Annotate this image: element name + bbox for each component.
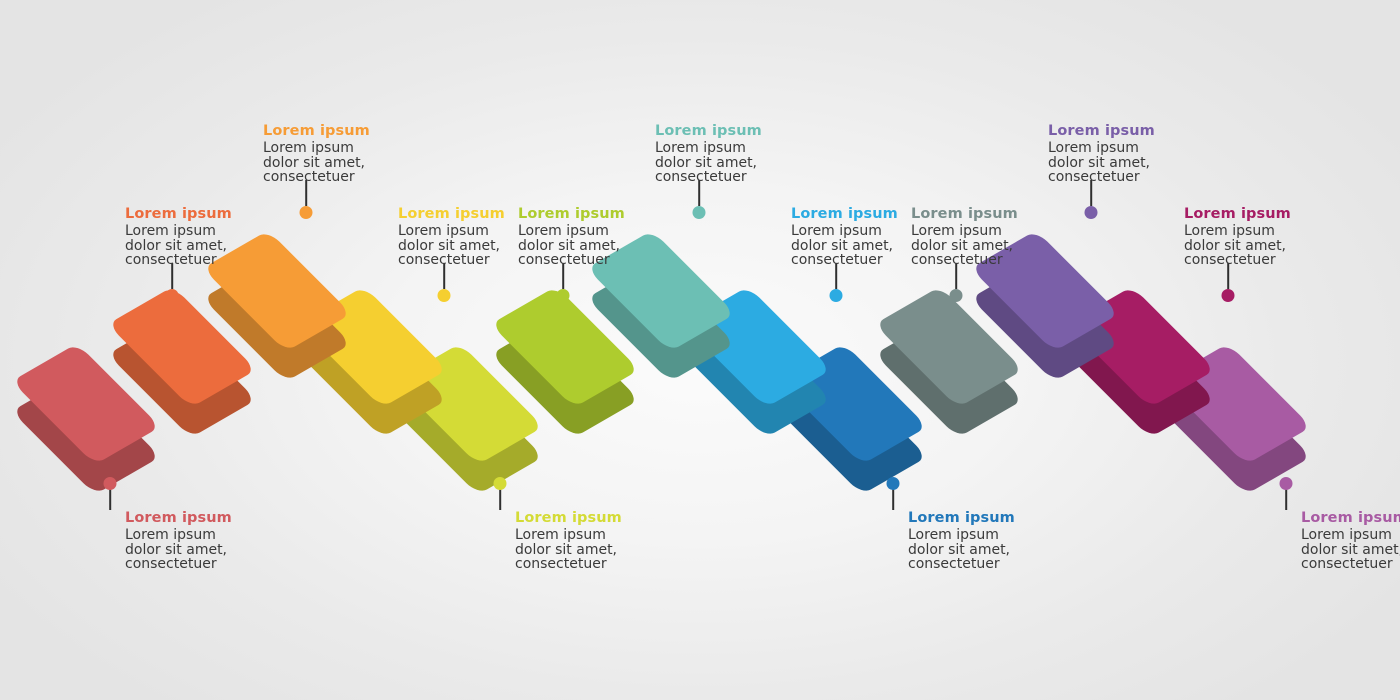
step-body-11: Lorem ipsum dolor sit amet, consectetuer — [1048, 141, 1258, 185]
cube-tile-1[interactable] — [27, 345, 202, 484]
connector-dot-2[interactable] — [166, 289, 179, 302]
step-label-9: Lorem ipsumLorem ipsum dolor sit amet, c… — [908, 510, 1118, 572]
step-label-12: Lorem ipsumLorem ipsum dolor sit amet, c… — [1184, 206, 1394, 268]
connector-8 — [826, 263, 846, 303]
step-heading-10: Lorem ipsum — [911, 206, 1121, 223]
step-label-5: Lorem ipsumLorem ipsum dolor sit amet, c… — [515, 510, 725, 572]
step-heading-9: Lorem ipsum — [908, 510, 1118, 527]
connector-dot-5[interactable] — [494, 477, 507, 490]
step-heading-12: Lorem ipsum — [1184, 206, 1394, 223]
connector-dot-12[interactable] — [1222, 289, 1235, 302]
connector-dot-9[interactable] — [887, 477, 900, 490]
connector-dot-1[interactable] — [104, 477, 117, 490]
step-label-11: Lorem ipsumLorem ipsum dolor sit amet, c… — [1048, 123, 1258, 185]
connector-1 — [100, 477, 120, 517]
step-heading-2: Lorem ipsum — [125, 206, 335, 223]
connector-12 — [1218, 263, 1238, 303]
step-body-10: Lorem ipsum dolor sit amet, consectetuer — [911, 224, 1121, 268]
connector-10 — [946, 263, 966, 303]
step-heading-11: Lorem ipsum — [1048, 123, 1258, 140]
step-heading-3: Lorem ipsum — [263, 123, 473, 140]
connector-dot-6[interactable] — [557, 289, 570, 302]
step-label-2: Lorem ipsumLorem ipsum dolor sit amet, c… — [125, 206, 335, 268]
step-label-13: Lorem ipsumLorem ipsum dolor sit amet, c… — [1301, 510, 1400, 572]
connector-9 — [883, 477, 903, 517]
connector-4 — [434, 263, 454, 303]
step-label-7: Lorem ipsumLorem ipsum dolor sit amet, c… — [655, 123, 865, 185]
step-body-13: Lorem ipsum dolor sit amet, consectetuer — [1301, 528, 1400, 572]
step-heading-7: Lorem ipsum — [655, 123, 865, 140]
step-heading-5: Lorem ipsum — [515, 510, 725, 527]
infographic-canvas: Lorem ipsumLorem ipsum dolor sit amet, c… — [0, 0, 1400, 700]
step-body-7: Lorem ipsum dolor sit amet, consectetuer — [655, 141, 865, 185]
step-label-6: Lorem ipsumLorem ipsum dolor sit amet, c… — [518, 206, 728, 268]
connector-dot-4[interactable] — [438, 289, 451, 302]
step-body-6: Lorem ipsum dolor sit amet, consectetuer — [518, 224, 728, 268]
step-label-1: Lorem ipsumLorem ipsum dolor sit amet, c… — [125, 510, 335, 572]
connector-5 — [490, 477, 510, 517]
step-heading-1: Lorem ipsum — [125, 510, 335, 527]
connector-dot-10[interactable] — [950, 289, 963, 302]
step-heading-13: Lorem ipsum — [1301, 510, 1400, 527]
step-body-2: Lorem ipsum dolor sit amet, consectetuer — [125, 224, 335, 268]
step-body-12: Lorem ipsum dolor sit amet, consectetuer — [1184, 224, 1394, 268]
connector-dot-13[interactable] — [1280, 477, 1293, 490]
step-body-5: Lorem ipsum dolor sit amet, consectetuer — [515, 528, 725, 572]
connector-6 — [553, 263, 573, 303]
step-label-3: Lorem ipsumLorem ipsum dolor sit amet, c… — [263, 123, 473, 185]
step-body-1: Lorem ipsum dolor sit amet, consectetuer — [125, 528, 335, 572]
connector-13 — [1276, 477, 1296, 517]
connector-2 — [162, 263, 182, 303]
step-body-9: Lorem ipsum dolor sit amet, consectetuer — [908, 528, 1118, 572]
step-heading-6: Lorem ipsum — [518, 206, 728, 223]
step-label-10: Lorem ipsumLorem ipsum dolor sit amet, c… — [911, 206, 1121, 268]
step-body-3: Lorem ipsum dolor sit amet, consectetuer — [263, 141, 473, 185]
connector-dot-8[interactable] — [830, 289, 843, 302]
